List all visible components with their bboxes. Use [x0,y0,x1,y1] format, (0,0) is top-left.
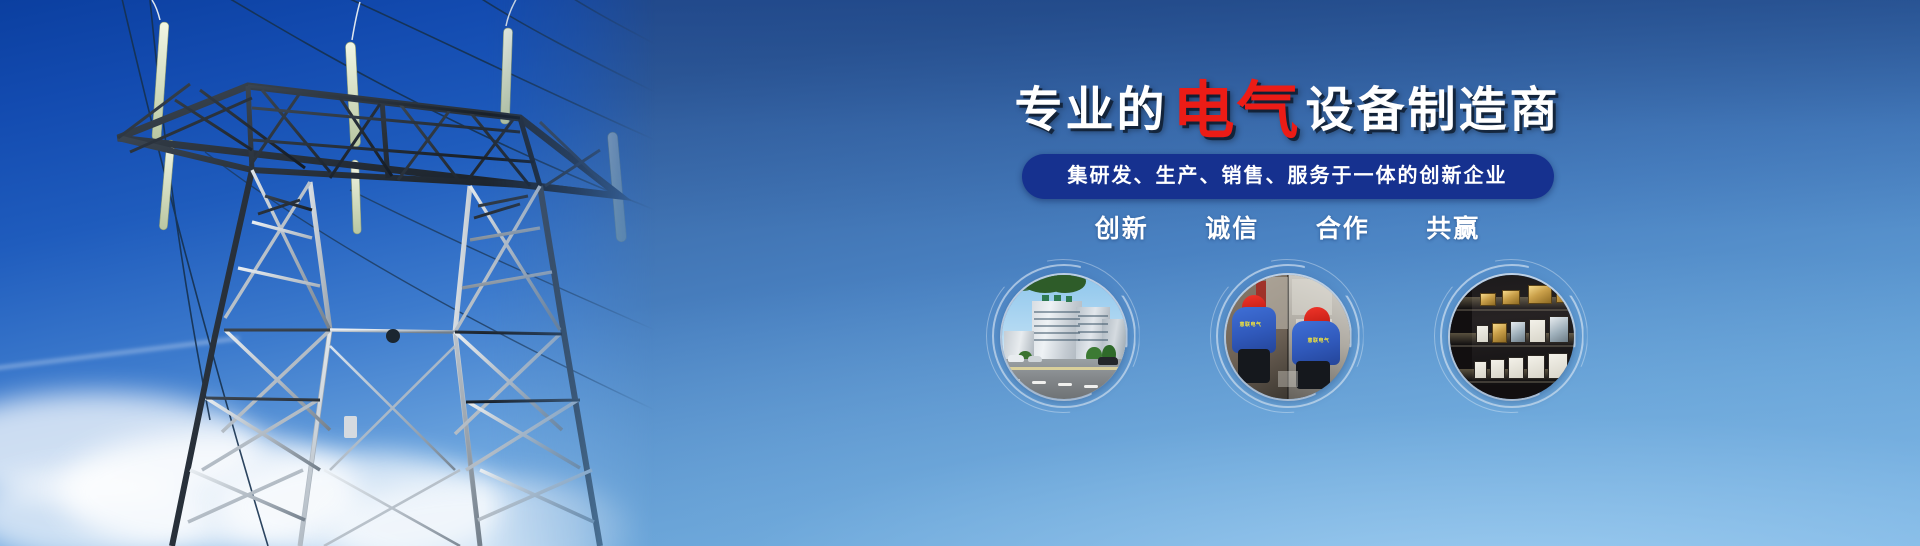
hero-banner: 专业的电气设备制造商 集研发、生产、销售、服务于一体的创新企业 创新 诚信 合作… [0,0,1920,546]
transmission-tower-structure [0,0,655,546]
photo-circle-slot [1436,262,1588,452]
subtitle-pill-wrapper: 集研发、生产、销售、服务于一体的创新企业 [655,154,1920,199]
keyword-winwin: 共赢 [1426,209,1480,245]
headline-part2: 设备制造商 [1306,86,1561,134]
subtitle-text: 集研发、生产、销售、服务于一体的创新企业 [1068,163,1508,187]
workers-installation-photo[interactable]: 意联电气 意联电气 [1226,275,1350,399]
keyword-innovation: 创新 [1095,209,1149,245]
photo-circle-slot [988,262,1140,452]
power-transmission-tower-photo [0,0,655,546]
keyword-integrity: 诚信 [1205,209,1259,245]
banner-content: 专业的电气设备制造商 集研发、生产、销售、服务于一体的创新企业 创新 诚信 合作… [655,0,1920,546]
subtitle-pill: 集研发、生产、销售、服务于一体的创新企业 [1022,154,1554,199]
headline-highlight: 电气 [1172,80,1300,142]
keyword-cooperation: 合作 [1316,209,1370,245]
company-building-photo[interactable] [1002,275,1126,399]
keyword-row: 创新 诚信 合作 共赢 [655,209,1920,245]
page-title: 专业的电气设备制造商 [655,74,1920,136]
certificates-wall-photo[interactable] [1450,275,1574,399]
photo-circle-slot: 意联电气 意联电气 [1212,262,1364,452]
headline-part1: 专业的 [1014,86,1167,134]
photo-circle-row: 意联电气 意联电气 [655,262,1920,482]
